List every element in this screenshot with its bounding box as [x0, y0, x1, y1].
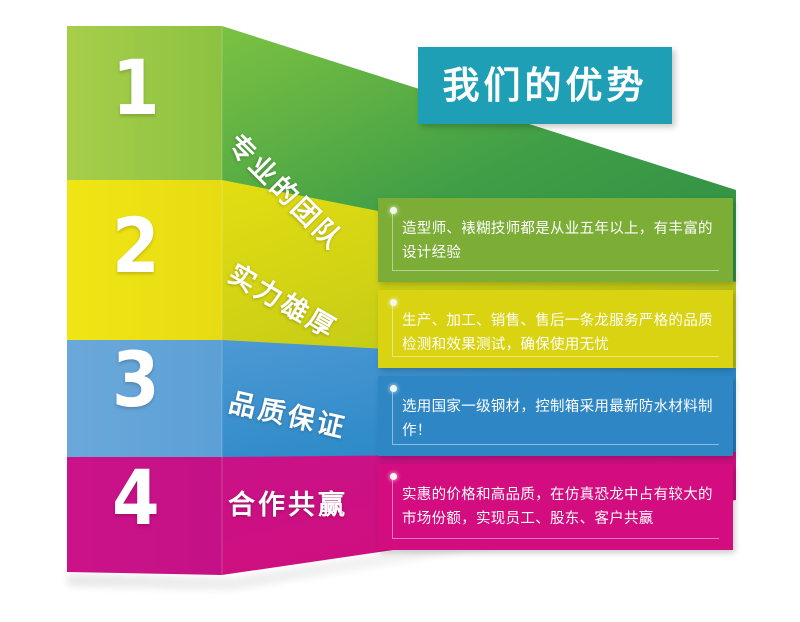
bullet-dot-icon: [390, 207, 397, 214]
description-card-2: 生产、加工、销售、售后一条龙服务严格的品质检测和效果测试，确保使用无忧: [378, 290, 733, 368]
description-card-3: 选用国家一级钢材，控制箱采用最新防水材料制作！: [378, 376, 733, 456]
card-text-2: 生产、加工、销售、售后一条龙服务严格的品质检测和效果测试，确保使用无忧: [402, 310, 717, 358]
bullet-dot-icon: [390, 299, 397, 306]
step-number-3: 3: [112, 342, 159, 418]
description-card-4: 实惠的价格和高品质，在仿真恐龙中占有较大的市场份额，实现员工、股东、客户共赢: [378, 464, 733, 550]
step-number-1: 1: [112, 50, 159, 126]
card-text-1: 造型师、裱糊技师都是从业五年以上，有丰富的设计经验: [402, 218, 717, 266]
card-text-3: 选用国家一级钢材，控制箱采用最新防水材料制作！: [402, 396, 717, 444]
bullet-dot-icon: [390, 473, 397, 480]
bullet-dot-icon: [390, 385, 397, 392]
description-card-1: 造型师、裱糊技师都是从业五年以上，有丰富的设计经验: [378, 198, 733, 282]
card-text-4: 实惠的价格和高品质，在仿真恐龙中占有较大的市场份额，实现员工、股东、客户共赢: [402, 484, 717, 532]
step-number-2: 2: [112, 208, 159, 284]
step-label-4: 合作共赢: [228, 483, 348, 522]
page-title-banner: 我们的优势: [418, 47, 672, 124]
infographic-canvas: 1 2 3 4 专业的团队 实力雄厚 品质保证 合作共赢 我们的优势 造型师、裱…: [0, 0, 800, 622]
step-number-4: 4: [112, 460, 159, 536]
page-title: 我们的优势: [443, 67, 648, 104]
